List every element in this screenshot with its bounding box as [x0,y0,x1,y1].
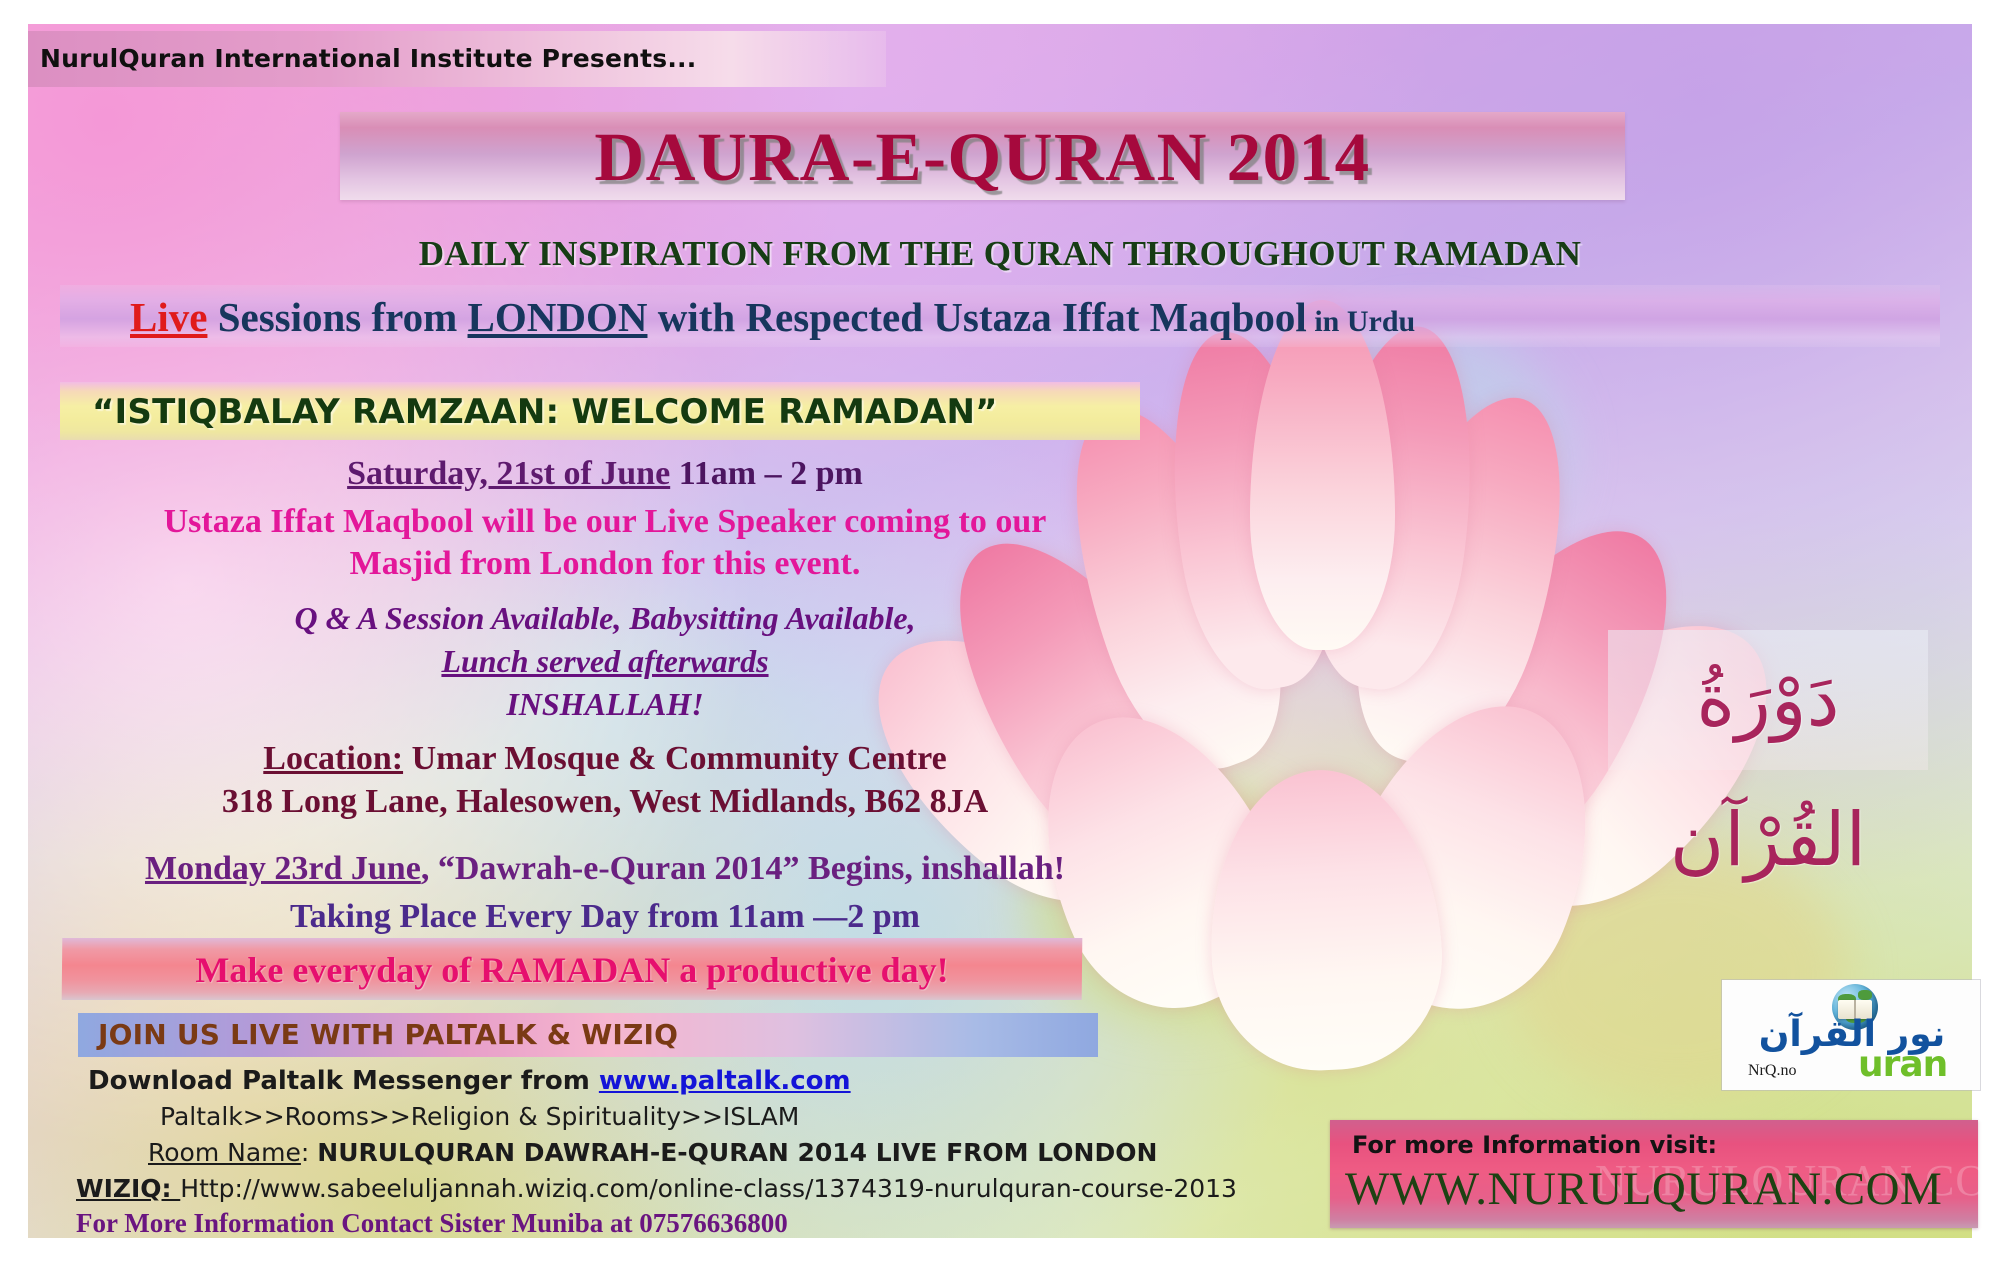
speaker-line-1: Ustaza Iffat Maqbool will be our Live Sp… [60,503,1150,541]
petal-center [1250,300,1395,650]
arabic-calligraphy: دَوْرَةُ القُرْآن [1608,630,1928,770]
location-name: Umar Mosque & Community Centre [403,740,947,777]
page-subtitle: DAILY INSPIRATION FROM THE QURAN THROUGH… [150,234,1850,274]
event-time: 11am – 2 pm [670,455,863,492]
inshallah-line: INSHALLAH! [60,686,1150,723]
qa-availability-line: Q & A Session Available, Babysitting Ava… [60,600,1150,637]
visit-label: For more Information visit: [1352,1128,1717,1162]
website-url[interactable]: WWW.NURULQURAN.COM [1345,1160,1942,1218]
logo-domain-text: NrQ.no [1748,1062,1796,1080]
monday-start-line: Monday 23rd June, “Dawrah-e-Quran 2014” … [60,850,1150,888]
daily-time-line: Taking Place Every Day from 11am —2 pm [60,898,1150,936]
sessions-from-text: Sessions from [207,294,467,340]
download-paltalk-line: Download Paltalk Messenger from www.palt… [88,1066,851,1096]
speaker-line-2: Masjid from London for this event. [60,545,1150,583]
location-address: 318 Long Lane, Halesowen, West Midlands,… [60,783,1150,821]
contact-line: For More Information Contact Sister Muni… [76,1208,788,1239]
paltalk-link[interactable]: www.paltalk.com [599,1066,851,1096]
wiziq-line: WIZIQ: Http://www.sabeeluljannah.wiziq.c… [76,1174,1237,1203]
event-date: Saturday, 21st of June [347,455,670,492]
event-flyer: NurulQuran International Institute Prese… [0,0,2000,1266]
respected-ustaza-text: with Respected Ustaza Iffat Maqbool [647,294,1306,340]
wiziq-url[interactable]: Http://www.sabeeluljannah.wiziq.com/onli… [180,1174,1237,1203]
monday-date: Monday 23rd June [145,850,421,887]
presents-text: NurulQuran International Institute Prese… [40,38,880,80]
monday-rest: , “Dawrah-e-Quran 2014” Begins, inshalla… [421,850,1065,887]
room-name-line: Room Name: NURULQURAN DAWRAH-E-QURAN 201… [148,1138,1157,1167]
london-word: LONDON [468,294,648,340]
paltalk-path-line: Paltalk>>Rooms>>Religion & Spirituality>… [160,1102,799,1131]
live-session-line: Live Sessions from LONDON with Respected… [130,292,1530,342]
wiziq-label: WIZIQ: [76,1174,180,1203]
event-date-line: Saturday, 21st of June 11am – 2 pm [60,455,1150,493]
room-name-value: NURULQURAN DAWRAH-E-QURAN 2014 LIVE FROM… [317,1138,1157,1167]
productive-banner-text: Make everyday of RAMADAN a productive da… [62,946,1082,994]
location-label: Location: [263,740,403,777]
in-urdu-text: in Urdu [1307,305,1415,338]
logo-latin-text: uran [1858,1044,1947,1085]
location-line: Location: Umar Mosque & Community Centre [60,740,1150,778]
join-banner-text: JOIN US LIVE WITH PALTALK & WIZIQ [98,1016,678,1054]
live-word: Live [130,294,207,340]
page-title: DAURA-E-QURAN 2014 [340,117,1625,197]
room-name-label: Room Name [148,1138,301,1167]
download-prefix: Download Paltalk Messenger from [88,1066,599,1096]
welcome-banner-text: “ISTIQBALAY RAMZAAN: WELCOME RAMADAN” [92,388,998,436]
room-colon: : [301,1138,317,1167]
lunch-line: Lunch served afterwards [60,643,1150,680]
